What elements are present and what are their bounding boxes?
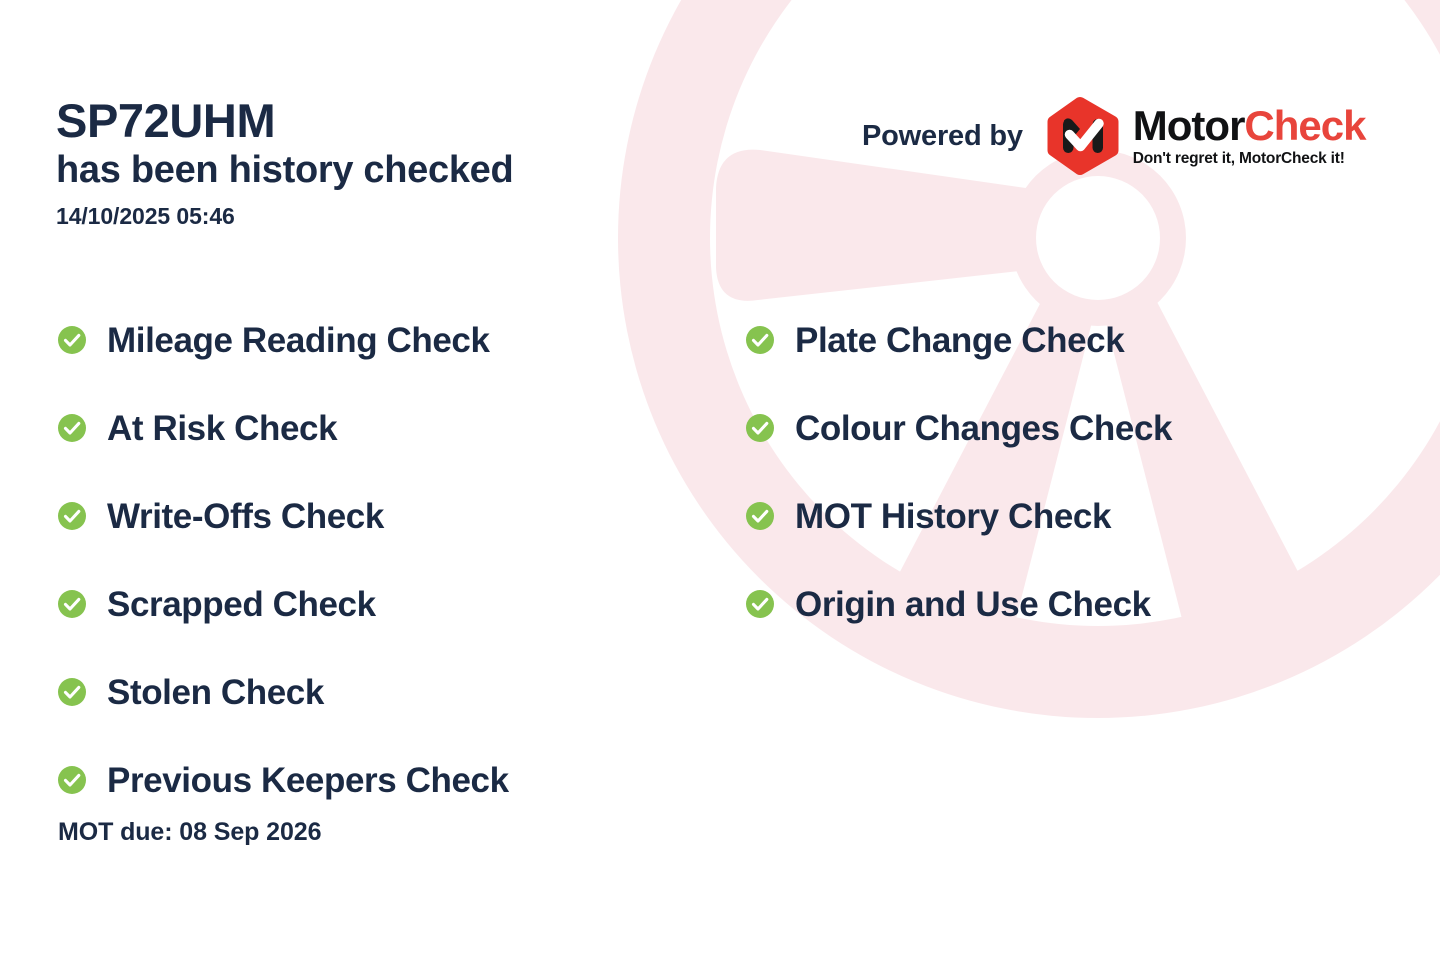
check-item: Write-Offs Check xyxy=(58,472,718,560)
check-item: Origin and Use Check xyxy=(746,560,1406,648)
wordmark-check: Check xyxy=(1244,102,1365,149)
green-check-circle-icon xyxy=(746,590,774,618)
history-check-card: SP72UHM has been history checked 14/10/2… xyxy=(0,0,1440,960)
powered-by-label: Powered by xyxy=(862,120,1023,153)
motorcheck-hexagon-logo xyxy=(1045,96,1121,176)
green-check-circle-icon xyxy=(58,678,86,706)
green-check-circle-icon xyxy=(58,766,86,794)
wordmark-motor: Motor xyxy=(1133,102,1245,149)
check-item: Mileage Reading Check xyxy=(58,296,718,384)
check-item: Plate Change Check xyxy=(746,296,1406,384)
check-timestamp: 14/10/2025 05:46 xyxy=(56,202,736,232)
registration-plate: SP72UHM xyxy=(56,96,736,146)
checks-left-column: Mileage Reading Check At Risk Check Writ… xyxy=(58,296,718,824)
check-label: At Risk Check xyxy=(107,411,337,446)
check-label: MOT History Check xyxy=(795,499,1111,534)
check-label: Previous Keepers Check xyxy=(107,763,509,798)
check-label: Colour Changes Check xyxy=(795,411,1172,446)
motorcheck-wordmark: MotorCheck Don't regret it, MotorCheck i… xyxy=(1133,105,1366,167)
green-check-circle-icon xyxy=(58,502,86,530)
mot-due-date: MOT due: 08 Sep 2026 xyxy=(58,818,321,847)
check-item: Previous Keepers Check xyxy=(58,736,718,824)
check-item: At Risk Check xyxy=(58,384,718,472)
brand-lockup: Powered by MotorCheck xyxy=(862,96,1365,176)
green-check-circle-icon xyxy=(746,502,774,530)
check-item: Stolen Check xyxy=(58,648,718,736)
check-item: Colour Changes Check xyxy=(746,384,1406,472)
green-check-circle-icon xyxy=(746,414,774,442)
check-label: Mileage Reading Check xyxy=(107,323,490,358)
header-block: SP72UHM has been history checked 14/10/2… xyxy=(56,96,736,232)
check-label: Stolen Check xyxy=(107,675,324,710)
page-title: has been history checked xyxy=(56,148,736,193)
green-check-circle-icon xyxy=(58,590,86,618)
green-check-circle-icon xyxy=(746,326,774,354)
brand-tagline: Don't regret it, MotorCheck it! xyxy=(1133,151,1366,167)
check-label: Origin and Use Check xyxy=(795,587,1151,622)
check-label: Scrapped Check xyxy=(107,587,376,622)
checks-right-column: Plate Change Check Colour Changes Check … xyxy=(746,296,1406,648)
check-item: MOT History Check xyxy=(746,472,1406,560)
green-check-circle-icon xyxy=(58,326,86,354)
motorcheck-logo[interactable]: MotorCheck Don't regret it, MotorCheck i… xyxy=(1045,96,1366,176)
check-label: Plate Change Check xyxy=(795,323,1124,358)
check-label: Write-Offs Check xyxy=(107,499,384,534)
check-item: Scrapped Check xyxy=(58,560,718,648)
green-check-circle-icon xyxy=(58,414,86,442)
